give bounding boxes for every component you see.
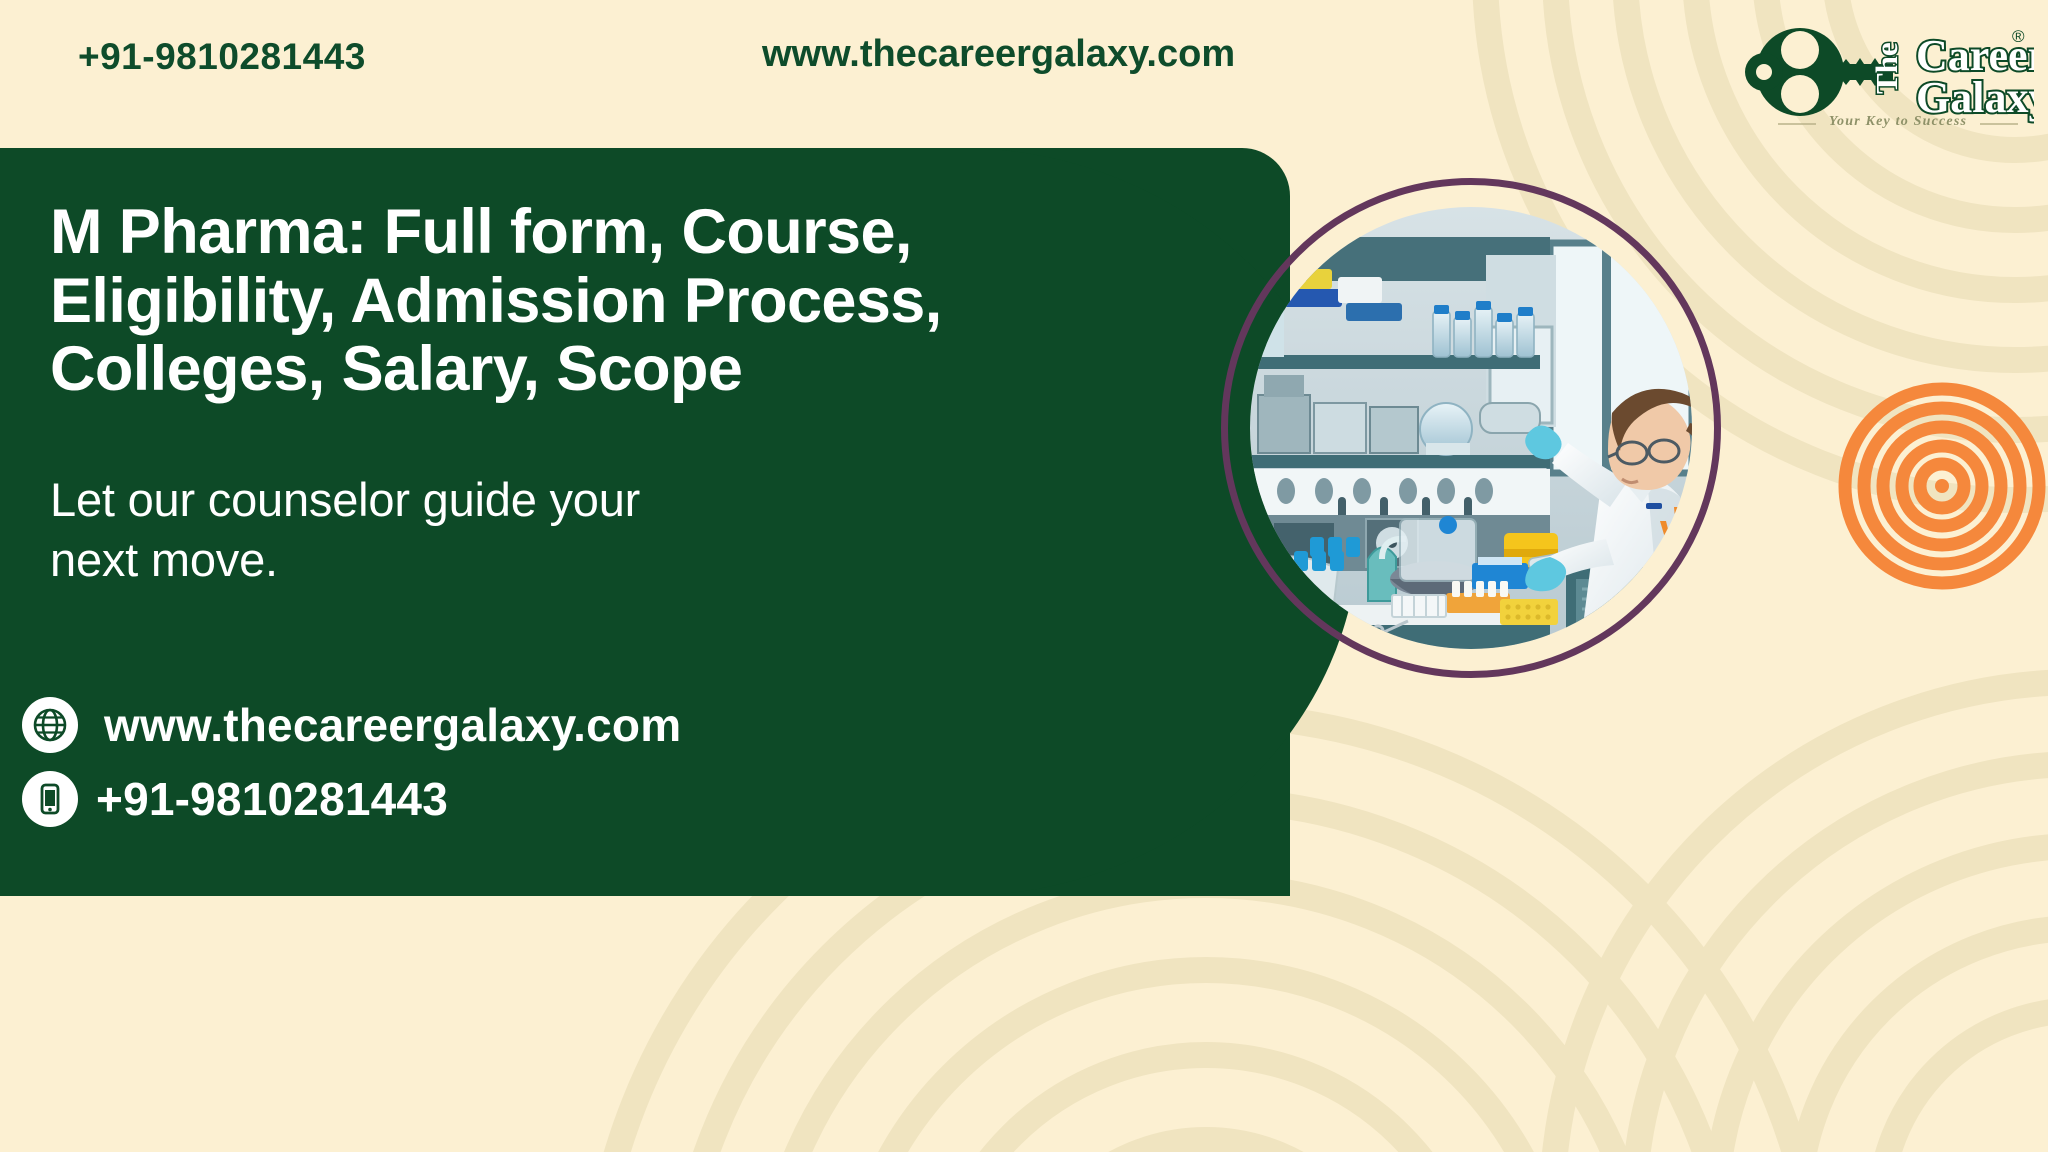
header-website-url[interactable]: www.thecareergalaxy.com <box>762 33 1235 76</box>
promotional-banner: +91-9810281443 www.thecareergalaxy.com T… <box>0 0 2048 1152</box>
mobile-phone-icon <box>29 778 71 820</box>
contact-website-label: www.thecareergalaxy.com <box>104 698 681 752</box>
subheadline-line-2: next move. <box>50 530 870 590</box>
banner-header: +91-9810281443 www.thecareergalaxy.com <box>0 0 2048 148</box>
globe-icon <box>29 704 71 746</box>
mobile-phone-icon-badge <box>22 771 78 827</box>
contact-list: www.thecareergalaxy.com +91-9810281443 <box>22 688 1022 836</box>
page-title: M Pharma: Full form, Course, Eligibility… <box>50 198 1220 404</box>
subheadline: Let our counselor guide your next move. <box>50 470 870 590</box>
contact-item-website[interactable]: www.thecareergalaxy.com <box>22 688 1022 762</box>
lab-photo <box>1221 178 1721 678</box>
contact-phone-label: +91-9810281443 <box>96 772 448 826</box>
page-title-line-1: M Pharma: Full form, Course, <box>50 198 1220 267</box>
header-phone-number[interactable]: +91-9810281443 <box>78 36 366 78</box>
contact-item-phone[interactable]: +91-9810281443 <box>22 762 1022 836</box>
page-title-line-2: Eligibility, Admission Process, <box>50 267 1220 336</box>
concentric-circles-decoration <box>1838 382 2046 590</box>
page-title-line-3: Colleges, Salary, Scope <box>50 335 1220 404</box>
subheadline-line-1: Let our counselor guide your <box>50 470 870 530</box>
photo-circle-border <box>1221 178 1721 678</box>
panel-content: M Pharma: Full form, Course, Eligibility… <box>0 148 1250 896</box>
globe-icon-badge <box>22 697 78 753</box>
